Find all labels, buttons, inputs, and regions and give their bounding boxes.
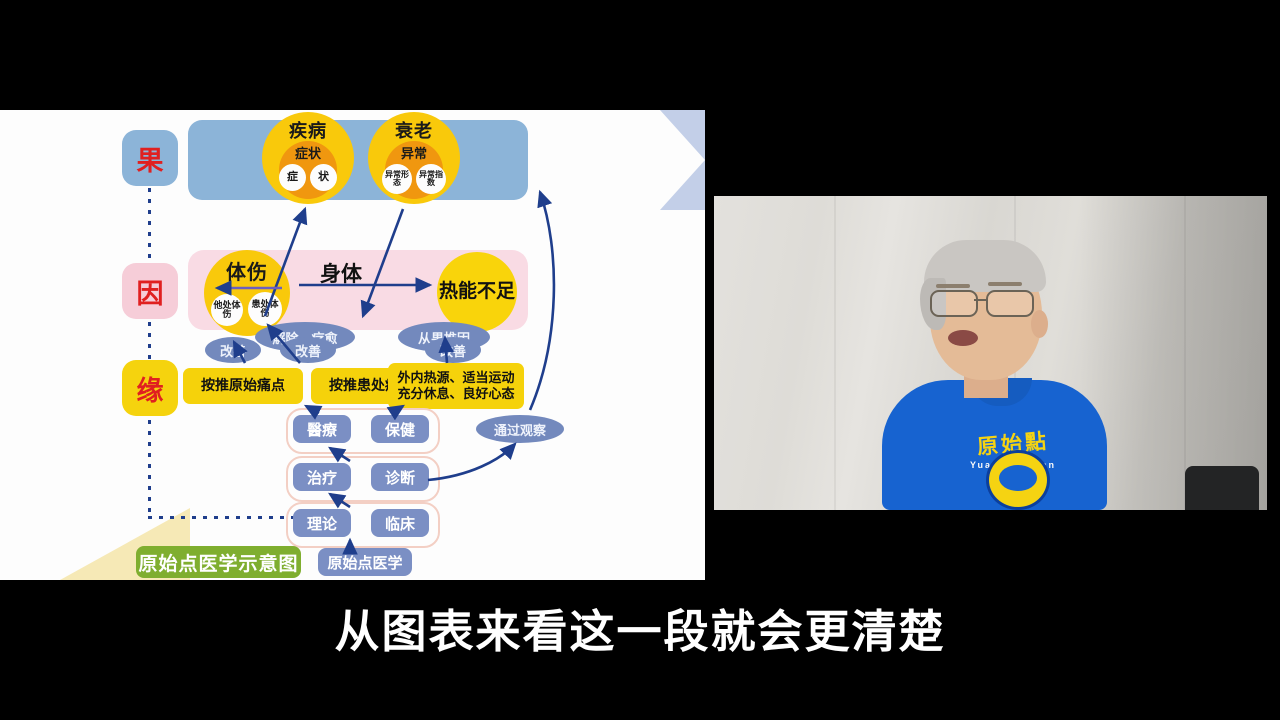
chip-treatment[interactable]: 治疗 (293, 463, 351, 491)
ellipse-improve-3-label: 改善 (440, 341, 466, 360)
chip-source-discipline[interactable]: 原始点医学 (318, 548, 412, 576)
ellipse-improve-1-label: 改善 (220, 341, 246, 360)
chip-source-discipline-label: 原始点医学 (327, 552, 402, 573)
action-bar-heat-rest: 外内热源、适当运动 充分休息、良好心态 (388, 363, 524, 409)
ellipse-improve-3: 改善 (425, 337, 481, 363)
rail-connector-1 (148, 188, 151, 260)
abnormal-small-2: 异常指数 (416, 164, 446, 194)
speaker-brow-left (936, 284, 970, 288)
ellipse-observation-label: 通过观察 (494, 420, 546, 439)
ellipse-improve-2: 改善 (280, 337, 336, 363)
chip-clinical[interactable]: 临床 (371, 509, 429, 537)
wall-seam-1 (834, 196, 836, 510)
chip-treatment-label: 治疗 (307, 467, 337, 488)
ellipse-improve-1: 改善 (205, 337, 261, 363)
ellipse-improve-2-label: 改善 (295, 341, 321, 360)
action-bar-press-origin-label: 按推原始痛点 (201, 377, 285, 395)
heat-deficiency-circle: 热能不足 (437, 252, 517, 332)
chip-health[interactable]: 保健 (371, 415, 429, 443)
rail-connector-2 (148, 322, 151, 362)
symptom-small-2: 状 (310, 164, 337, 191)
glasses-lens-left (930, 290, 978, 317)
speaker-mouth (948, 330, 978, 346)
decor-triangle-top-right (660, 110, 705, 210)
chip-theory[interactable]: 理论 (293, 509, 351, 537)
chip-medical-label: 醫療 (307, 419, 337, 440)
chair-back (1185, 466, 1259, 510)
rail-connector-horizontal (148, 516, 298, 519)
action-bar-heat-rest-label: 外内热源、适当运动 充分休息、良好心态 (397, 370, 514, 403)
slide-title-badge-label: 原始点医学示意图 (138, 549, 298, 576)
speaker-ear (1031, 310, 1048, 338)
heat-deficiency-label: 热能不足 (439, 281, 515, 303)
action-bar-press-origin: 按推原始痛点 (183, 368, 303, 404)
glasses-lens-right (986, 290, 1034, 317)
chip-health-label: 保健 (385, 419, 415, 440)
speaker-figure: 原始點 Yuan Shi Dian (864, 250, 1124, 510)
result-band (188, 120, 528, 200)
glasses-bridge (974, 299, 986, 301)
group-injury: 体伤 他处体伤 患处体伤 (204, 250, 290, 336)
injury-small-2: 患处体伤 (248, 292, 282, 326)
ellipse-observation: 通过观察 (476, 415, 564, 443)
chip-medical[interactable]: 醫療 (293, 415, 351, 443)
symptom-small-1: 症 (279, 164, 306, 191)
rail-label-cause: 因 (122, 263, 178, 319)
chip-clinical-label: 临床 (385, 513, 415, 534)
rail-connector-3 (148, 420, 151, 518)
chip-theory-label: 理论 (307, 513, 337, 534)
slide-title-badge: 原始点医学示意图 (136, 546, 301, 578)
body-label: 身体 (320, 258, 362, 288)
rail-label-condition: 缘 (122, 360, 178, 416)
subtitle-caption: 从图表来看这一段就会更清楚 (0, 595, 1280, 660)
chip-diagnosis-label: 诊断 (385, 467, 415, 488)
speaker-glasses (930, 290, 1042, 314)
group-aging: 衰老 异常 异常形态 异常指数 (368, 112, 460, 204)
presentation-slide: 身体 果 因 缘 疾病 症状 症 状 衰老 异常 异常形态 异常指数 体伤 他处… (0, 110, 705, 580)
speaker-brow-right (988, 282, 1022, 286)
video-player-panel[interactable]: 原始點 Yuan Shi Dian (714, 196, 1267, 510)
group-disease: 疾病 症状 症 状 (262, 112, 354, 204)
chip-diagnosis[interactable]: 诊断 (371, 463, 429, 491)
speaker-shirt: 原始點 Yuan Shi Dian (882, 380, 1107, 510)
injury-small-1: 他处体伤 (211, 294, 243, 326)
shirt-logo-badge (986, 450, 1050, 510)
rail-label-result: 果 (122, 130, 178, 186)
abnormal-small-1: 异常形态 (382, 164, 412, 194)
shirt-logo-badge-inner (999, 465, 1037, 491)
